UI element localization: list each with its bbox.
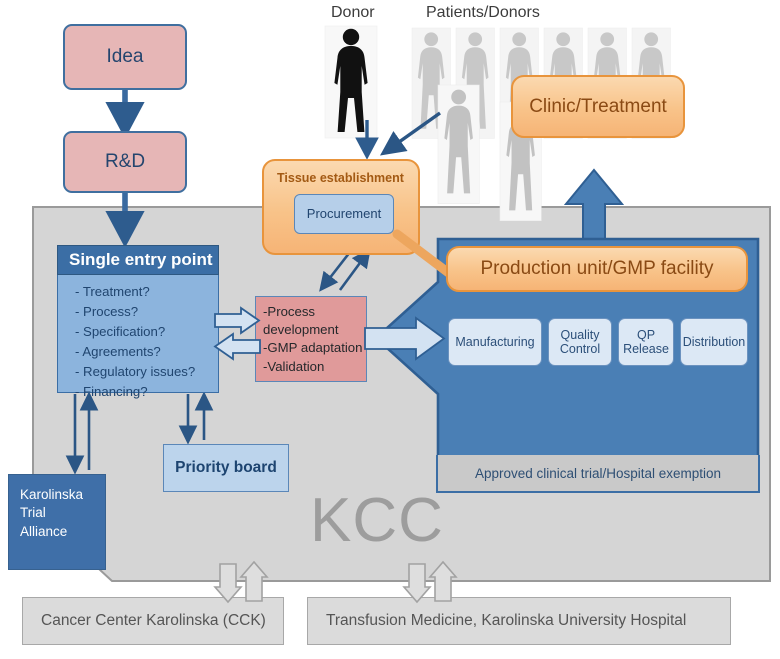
transfusion-label: Transfusion Medicine, Karolinska Univers… [326, 612, 686, 630]
quality-control-label-line1: Quality [561, 328, 600, 342]
list-item: - Agreements? [75, 342, 218, 362]
production-unit-label: Production unit/GMP facility [480, 258, 713, 280]
block-arrow-down [404, 564, 430, 602]
priority-board-box[interactable]: Priority board [163, 444, 289, 492]
list-item: - Treatment? [75, 282, 218, 302]
single-entry-point-list: - Treatment? - Process? - Specification?… [57, 275, 219, 393]
karolinska-trial-alliance-box[interactable]: Karolinska Trial Alliance [8, 474, 106, 570]
quality-control-box[interactable]: Quality Control [548, 318, 612, 366]
kta-label-line3: Alliance [20, 523, 105, 541]
priority-board-label: Priority board [175, 459, 277, 477]
manufacturing-label: Manufacturing [455, 335, 534, 349]
list-item: - Financing? [75, 382, 218, 402]
production-unit-box[interactable]: Production unit/GMP facility [446, 246, 748, 292]
list-item: - Specification? [75, 322, 218, 342]
process-development-line2: development [263, 321, 366, 339]
approved-clinical-trial-bar: Approved clinical trial/Hospital exempti… [436, 455, 760, 493]
block-arrow-left [215, 334, 260, 359]
single-entry-point-title: Single entry point [57, 245, 219, 275]
qp-release-box[interactable]: QP Release [618, 318, 674, 366]
quality-control-label-line2: Control [560, 342, 600, 356]
list-item: - Regulatory issues? [75, 362, 218, 382]
block-arrows-kcc-to-cck [216, 563, 264, 605]
qp-release-label-line1: QP [637, 328, 655, 342]
manufacturing-box[interactable]: Manufacturing [448, 318, 542, 366]
cck-label: Cancer Center Karolinska (CCK) [41, 612, 266, 630]
transfusion-box[interactable]: Transfusion Medicine, Karolinska Univers… [307, 597, 731, 645]
block-arrow-right [215, 308, 259, 333]
diagram-canvas: KCC [0, 0, 780, 659]
block-arrows-kcc-to-transfusion [405, 563, 453, 605]
block-arrows-sep-procdev [214, 306, 262, 368]
distribution-box[interactable]: Distribution [680, 318, 748, 366]
kta-label-line2: Trial [20, 504, 105, 522]
approved-clinical-trial-label: Approved clinical trial/Hospital exempti… [475, 466, 721, 481]
block-arrow-down [215, 564, 241, 602]
block-arrow-procdev-to-gmp [364, 316, 446, 362]
block-arrow-up [430, 562, 456, 601]
process-development-line1: -Process [263, 303, 366, 321]
distribution-label: Distribution [683, 335, 746, 349]
list-item: - Process? [75, 302, 218, 322]
kta-label-line1: Karolinska [20, 486, 105, 504]
single-entry-point-box[interactable]: Single entry point - Treatment? - Proces… [57, 245, 219, 393]
process-development-line4: -Validation [263, 358, 366, 376]
process-development-box[interactable]: -Process development -GMP adaptation -Va… [255, 296, 367, 382]
block-arrow-up [241, 562, 267, 601]
process-development-line3: -GMP adaptation [263, 339, 366, 357]
qp-release-label-line2: Release [623, 342, 669, 356]
